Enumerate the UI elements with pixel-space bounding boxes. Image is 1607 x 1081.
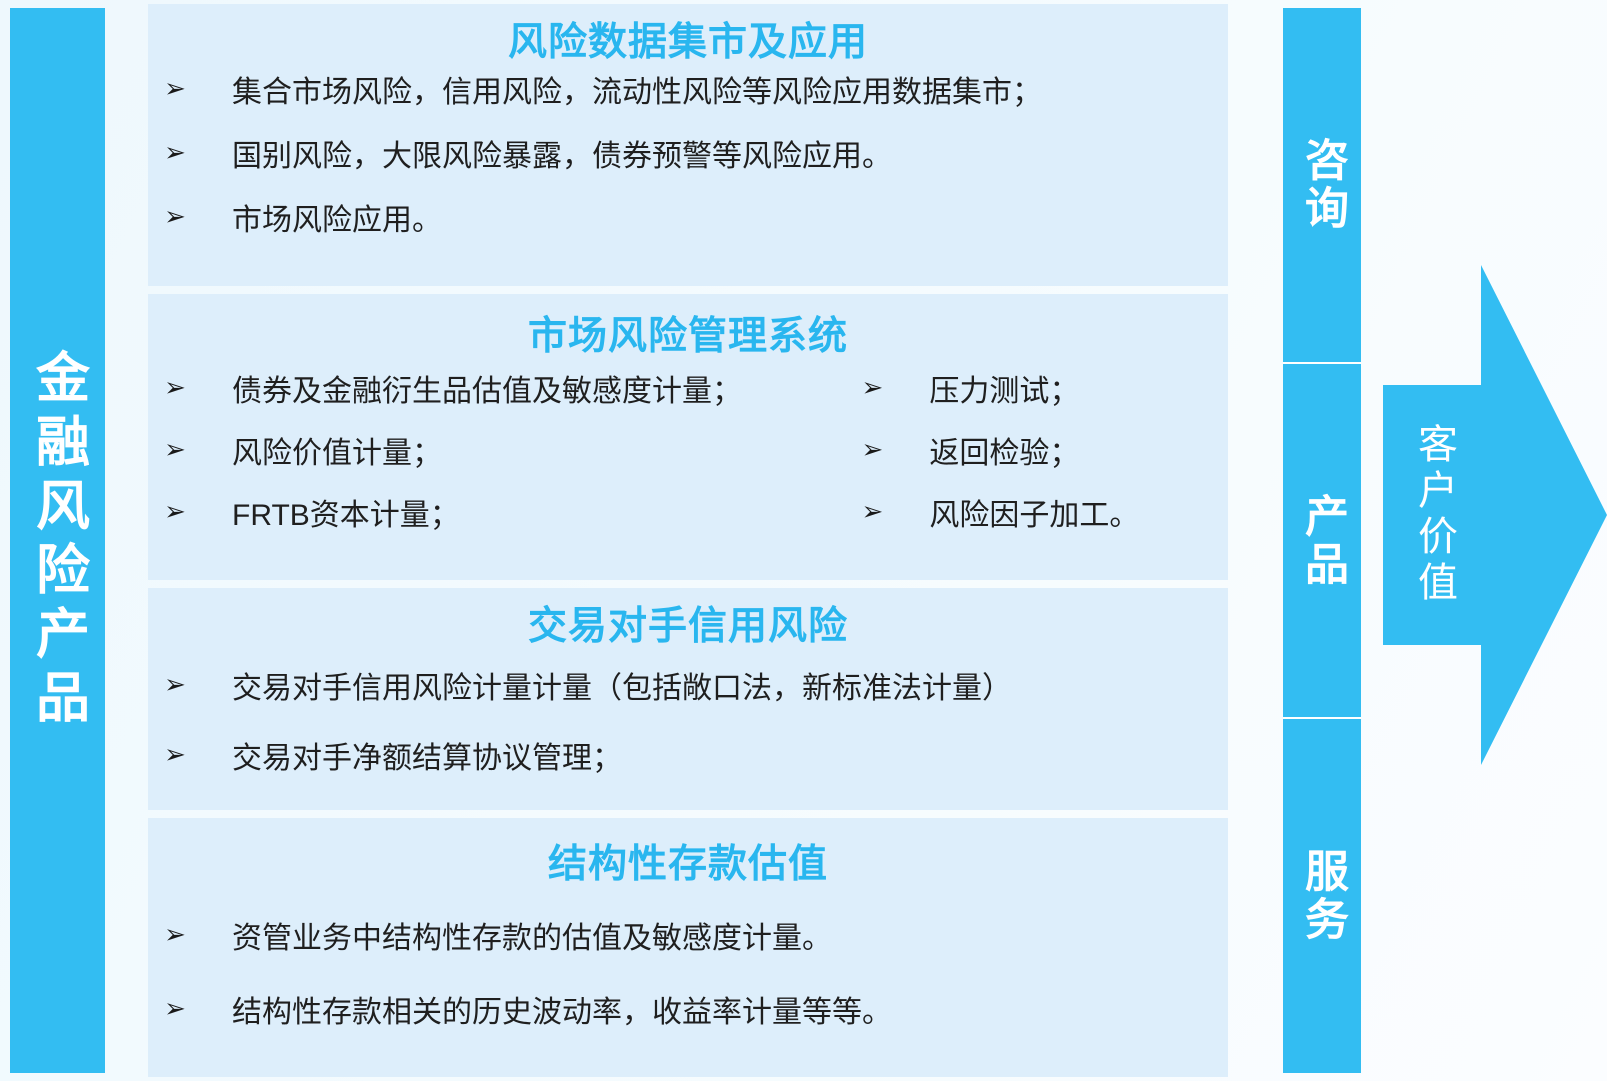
arrow-bullet-icon: ➢ [162,498,188,528]
bullet-column: ➢ 交易对手信用风险计量计量（包括敞口法，新标准法计量） [162,671,862,707]
bullet-list: ➢ 资管业务中结构性存款的估值及敏感度计量。 ➢ 结构性存款相关的历史波动率，收… [148,891,1228,1077]
arrow-bullet-icon: ➢ [859,374,885,404]
bullet-text: 压力测试； [929,374,1079,410]
arrow-bullet-icon: ➢ [162,75,188,105]
list-item: ➢ 风险价值计量； ➢ 返回检验； [162,436,1228,472]
section-risk-data-mart: 风险数据集市及应用 ➢ 集合市场风险，信用风险，流动性风险等风险应用数据集市； … [148,4,1228,286]
sections-stack: 风险数据集市及应用 ➢ 集合市场风险，信用风险，流动性风险等风险应用数据集市； … [148,4,1228,1077]
section-structured-deposit-valuation: 结构性存款估值 ➢ 资管业务中结构性存款的估值及敏感度计量。 ➢ 结构性存款相关… [148,818,1228,1077]
bullet-column: ➢ FRTB资本计量； [162,498,859,534]
bullet-text: 市场风险应用。 [232,203,442,239]
bullet-list: ➢ 债券及金融衍生品估值及敏感度计量； ➢ 压力测试； ➢ 风险价值计量； ➢ … [148,362,1228,580]
pillar-product: 产品 [1283,364,1361,720]
service-pillars-column: 咨询 产品 服务 [1283,8,1361,1073]
bullet-text: 债券及金融衍生品估值及敏感度计量； [232,374,742,410]
list-item: ➢ 市场风险应用。 [162,203,1228,239]
pillar-consulting: 咨询 [1283,8,1361,364]
customer-value-arrow: 客户价值 [1383,265,1607,765]
arrow-bullet-icon: ➢ [162,995,188,1025]
bullet-text: 风险因子加工。 [929,498,1139,534]
list-item: ➢ 债券及金融衍生品估值及敏感度计量； ➢ 压力测试； [162,374,1228,410]
pillar-label: 咨询 [1300,137,1344,233]
section-title: 结构性存款估值 [148,844,1228,887]
bullet-column: ➢ 市场风险应用。 [162,203,862,239]
bullet-text: 返回检验； [929,436,1079,472]
left-category-bar: 金融风险产品 [10,8,105,1073]
arrow-bullet-icon: ➢ [162,436,188,466]
arrow-bullet-icon: ➢ [162,671,188,701]
bullet-text: 资管业务中结构性存款的估值及敏感度计量。 [232,921,832,957]
pillar-label: 产品 [1300,493,1344,589]
list-item: ➢ 交易对手净额结算协议管理； [162,741,1228,777]
bullet-column: ➢ 国别风险，大限风险暴露，债券预警等风险应用。 [162,139,862,175]
arrow-bullet-icon: ➢ [859,436,885,466]
list-item: ➢ FRTB资本计量； ➢ 风险因子加工。 [162,498,1228,534]
bullet-text: 交易对手净额结算协议管理； [232,741,622,777]
bullet-list: ➢ 集合市场风险，信用风险，流动性风险等风险应用数据集市； ➢ 国别风险，大限风… [148,69,1228,286]
bullet-list: ➢ 交易对手信用风险计量计量（包括敞口法，新标准法计量） ➢ 交易对手净额结算协… [148,653,1228,811]
arrow-bullet-icon: ➢ [859,498,885,528]
bullet-column: ➢ 风险因子加工。 [859,498,1228,534]
list-item: ➢ 集合市场风险，信用风险，流动性风险等风险应用数据集市； [162,75,1228,111]
bullet-column: ➢ 资管业务中结构性存款的估值及敏感度计量。 [162,921,862,957]
bullet-text: 集合市场风险，信用风险，流动性风险等风险应用数据集市； [232,75,1042,111]
bullet-column: ➢ 风险价值计量； [162,436,859,472]
list-item: ➢ 国别风险，大限风险暴露，债券预警等风险应用。 [162,139,1228,175]
bullet-text: FRTB资本计量； [232,498,460,534]
section-counterparty-credit-risk: 交易对手信用风险 ➢ 交易对手信用风险计量计量（包括敞口法，新标准法计量） ➢ … [148,588,1228,810]
arrow-bullet-icon: ➢ [162,203,188,233]
bullet-text: 交易对手信用风险计量计量（包括敞口法，新标准法计量） [232,671,1012,707]
arrow-bullet-icon: ➢ [162,374,188,404]
arrow-bullet-icon: ➢ [162,921,188,951]
bullet-column: ➢ 返回检验； [859,436,1228,472]
bullet-column: ➢ 压力测试； [859,374,1228,410]
customer-value-label: 客户价值 [1391,380,1477,650]
pillar-label: 服务 [1300,848,1344,944]
bullet-column: ➢ 结构性存款相关的历史波动率，收益率计量等等。 [162,995,862,1031]
bullet-column: ➢ 债券及金融衍生品估值及敏感度计量； [162,374,859,410]
section-title: 市场风险管理系统 [148,316,1228,359]
list-item: ➢ 结构性存款相关的历史波动率，收益率计量等等。 [162,995,1228,1031]
bullet-text: 结构性存款相关的历史波动率，收益率计量等等。 [232,995,892,1031]
list-item: ➢ 交易对手信用风险计量计量（包括敞口法，新标准法计量） [162,671,1228,707]
section-title: 交易对手信用风险 [148,606,1228,649]
left-category-label: 金融风险产品 [31,349,85,733]
bullet-column: ➢ 交易对手净额结算协议管理； [162,741,862,777]
bullet-text: 国别风险，大限风险暴露，债券预警等风险应用。 [232,139,892,175]
bullet-text: 风险价值计量； [232,436,442,472]
pillar-service: 服务 [1283,719,1361,1073]
bullet-column: ➢ 集合市场风险，信用风险，流动性风险等风险应用数据集市； [162,75,862,111]
section-title: 风险数据集市及应用 [148,22,1228,65]
arrow-bullet-icon: ➢ [162,139,188,169]
arrow-bullet-icon: ➢ [162,741,188,771]
list-item: ➢ 资管业务中结构性存款的估值及敏感度计量。 [162,921,1228,957]
section-market-risk-system: 市场风险管理系统 ➢ 债券及金融衍生品估值及敏感度计量； ➢ 压力测试； ➢ 风… [148,294,1228,580]
